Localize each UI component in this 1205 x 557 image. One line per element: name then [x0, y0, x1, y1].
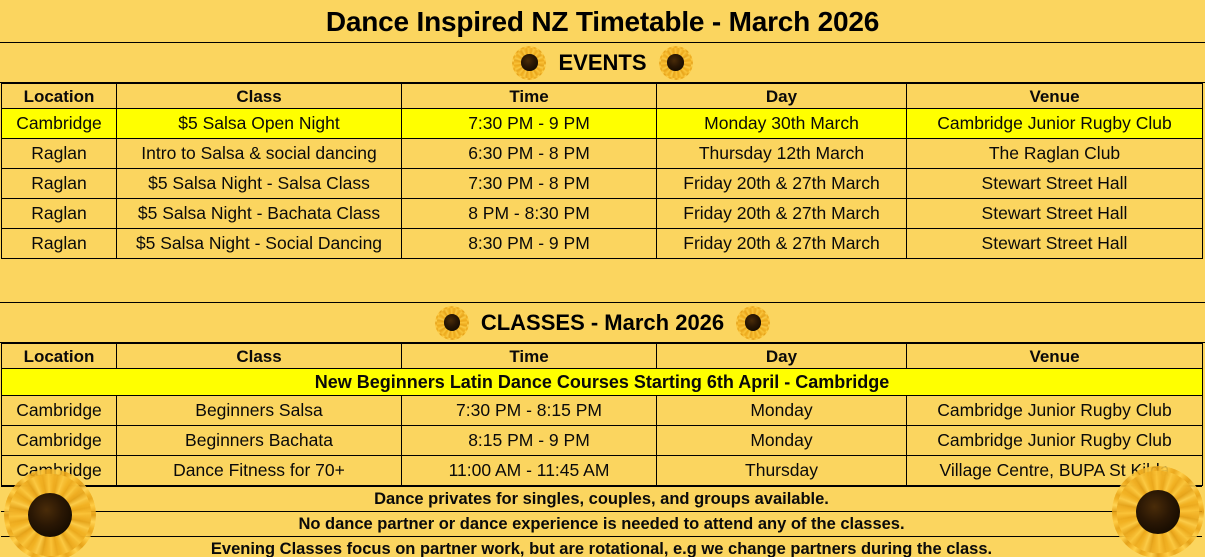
- classes-notice-row: New Beginners Latin Dance Courses Starti…: [2, 369, 1203, 396]
- cell-class: $5 Salsa Night - Bachata Class: [117, 199, 402, 229]
- timetable-poster: Dance Inspired NZ Timetable - March 2026…: [0, 0, 1205, 557]
- footer-note-row: Evening Classes focus on partner work, b…: [1, 537, 1202, 557]
- column-header-time: Time: [402, 344, 657, 369]
- section-spacer-ruled: [0, 281, 1205, 303]
- cell-time: 7:30 PM - 8:15 PM: [402, 396, 657, 426]
- table-row: Raglan $5 Salsa Night - Social Dancing 8…: [2, 229, 1203, 259]
- column-header-class: Class: [117, 84, 402, 109]
- classes-section-header: CLASSES - March 2026: [0, 303, 1205, 343]
- classes-notice-text: New Beginners Latin Dance Courses Starti…: [2, 369, 1203, 396]
- cell-day: Monday 30th March: [657, 109, 907, 139]
- cell-day: Friday 20th & 27th March: [657, 199, 907, 229]
- cell-venue: Stewart Street Hall: [907, 199, 1203, 229]
- footer-note-text: Dance privates for singles, couples, and…: [1, 487, 1202, 512]
- sunflower-icon: [659, 46, 693, 80]
- cell-class: Dance Fitness for 70+: [117, 456, 402, 486]
- footer-note-text: No dance partner or dance experience is …: [1, 512, 1202, 537]
- cell-venue: Stewart Street Hall: [907, 229, 1203, 259]
- cell-venue: Village Centre, BUPA St Kilda: [907, 456, 1203, 486]
- column-header-day: Day: [657, 344, 907, 369]
- table-row: Raglan $5 Salsa Night - Bachata Class 8 …: [2, 199, 1203, 229]
- events-table: Location Class Time Day Venue Cambridge …: [1, 83, 1203, 259]
- column-header-location: Location: [2, 84, 117, 109]
- cell-time: 6:30 PM - 8 PM: [402, 139, 657, 169]
- footer-note-row: Dance privates for singles, couples, and…: [1, 487, 1202, 512]
- table-row: Cambridge $5 Salsa Open Night 7:30 PM - …: [2, 109, 1203, 139]
- cell-day: Friday 20th & 27th March: [657, 169, 907, 199]
- page-title: Dance Inspired NZ Timetable - March 2026: [0, 0, 1205, 43]
- sunflower-icon: [736, 306, 770, 340]
- cell-class: $5 Salsa Open Night: [117, 109, 402, 139]
- cell-venue: Cambridge Junior Rugby Club: [907, 109, 1203, 139]
- footer-note-text: Evening Classes focus on partner work, b…: [1, 537, 1202, 557]
- cell-location: Cambridge: [2, 396, 117, 426]
- sunflower-icon: [512, 46, 546, 80]
- cell-venue: The Raglan Club: [907, 139, 1203, 169]
- cell-class: $5 Salsa Night - Salsa Class: [117, 169, 402, 199]
- cell-class: $5 Salsa Night - Social Dancing: [117, 229, 402, 259]
- cell-venue: Cambridge Junior Rugby Club: [907, 426, 1203, 456]
- section-spacer-blank: [0, 259, 1205, 281]
- cell-time: 8:30 PM - 9 PM: [402, 229, 657, 259]
- cell-time: 7:30 PM - 9 PM: [402, 109, 657, 139]
- column-header-location: Location: [2, 344, 117, 369]
- column-header-venue: Venue: [907, 344, 1203, 369]
- footer-note-row: No dance partner or dance experience is …: [1, 512, 1202, 537]
- cell-venue: Stewart Street Hall: [907, 169, 1203, 199]
- column-header-time: Time: [402, 84, 657, 109]
- cell-day: Thursday 12th March: [657, 139, 907, 169]
- table-row: Cambridge Beginners Bachata 8:15 PM - 9 …: [2, 426, 1203, 456]
- table-row: Cambridge Beginners Salsa 7:30 PM - 8:15…: [2, 396, 1203, 426]
- cell-location: Raglan: [2, 199, 117, 229]
- classes-table: Location Class Time Day Venue New Beginn…: [1, 343, 1203, 486]
- sunflower-icon: [435, 306, 469, 340]
- cell-day: Friday 20th & 27th March: [657, 229, 907, 259]
- cell-day: Thursday: [657, 456, 907, 486]
- events-table-header-row: Location Class Time Day Venue: [2, 84, 1203, 109]
- cell-location: Raglan: [2, 229, 117, 259]
- cell-time: 11:00 AM - 11:45 AM: [402, 456, 657, 486]
- cell-location: Raglan: [2, 139, 117, 169]
- cell-class: Beginners Salsa: [117, 396, 402, 426]
- cell-venue: Cambridge Junior Rugby Club: [907, 396, 1203, 426]
- cell-day: Monday: [657, 426, 907, 456]
- cell-location: Cambridge: [2, 456, 117, 486]
- cell-time: 8 PM - 8:30 PM: [402, 199, 657, 229]
- cell-day: Monday: [657, 396, 907, 426]
- cell-time: 7:30 PM - 8 PM: [402, 169, 657, 199]
- cell-time: 8:15 PM - 9 PM: [402, 426, 657, 456]
- classes-table-header-row: Location Class Time Day Venue: [2, 344, 1203, 369]
- column-header-day: Day: [657, 84, 907, 109]
- column-header-class: Class: [117, 344, 402, 369]
- cell-class: Intro to Salsa & social dancing: [117, 139, 402, 169]
- events-section-label: EVENTS: [558, 43, 646, 83]
- events-section-header: EVENTS: [0, 43, 1205, 83]
- cell-location: Cambridge: [2, 109, 117, 139]
- table-row: Cambridge Dance Fitness for 70+ 11:00 AM…: [2, 456, 1203, 486]
- cell-location: Raglan: [2, 169, 117, 199]
- footer-notes: Dance privates for singles, couples, and…: [1, 486, 1202, 557]
- table-row: Raglan Intro to Salsa & social dancing 6…: [2, 139, 1203, 169]
- cell-class: Beginners Bachata: [117, 426, 402, 456]
- classes-section-label: CLASSES - March 2026: [481, 303, 724, 343]
- cell-location: Cambridge: [2, 426, 117, 456]
- table-row: Raglan $5 Salsa Night - Salsa Class 7:30…: [2, 169, 1203, 199]
- column-header-venue: Venue: [907, 84, 1203, 109]
